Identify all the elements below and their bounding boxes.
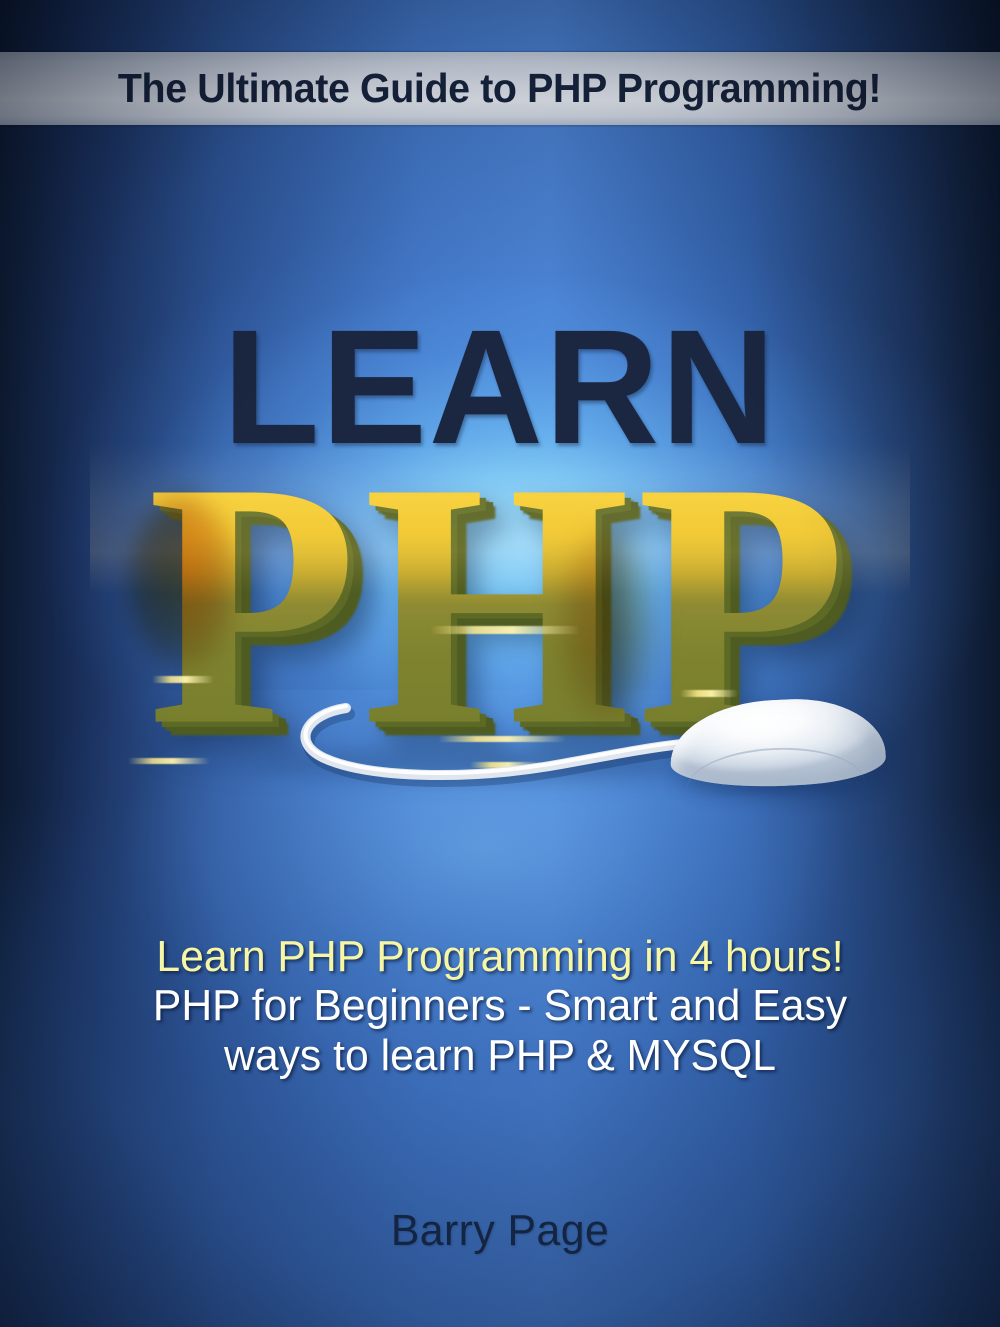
author-name: Barry Page	[15, 1206, 985, 1256]
subtitle-line-1: Learn PHP Programming in 4 hours!	[15, 932, 985, 981]
book-cover: The Ultimate Guide to PHP Programming! L…	[0, 0, 1000, 1327]
subtitle-block: Learn PHP Programming in 4 hours! PHP fo…	[0, 932, 1000, 1080]
subtitle-line-2: PHP for Beginners - Smart and Easy	[15, 981, 985, 1030]
cover-vignette	[0, 0, 1000, 1327]
subtitle-line-3: ways to learn PHP & MYSQL	[15, 1031, 985, 1080]
